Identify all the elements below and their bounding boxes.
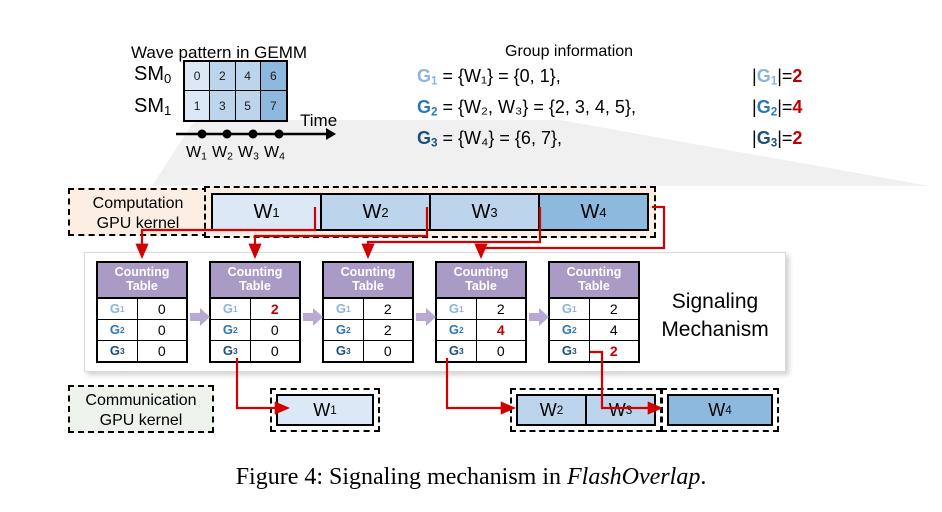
communication-block-w3[interactable]: W3: [587, 396, 654, 424]
counting-table-row: G1 2: [550, 299, 638, 320]
communication-blocks: W2 W3: [516, 394, 656, 426]
counting-row-key: G2: [550, 320, 590, 340]
counting-row-value: 2: [590, 341, 638, 361]
counting-table-row: G2 4: [437, 320, 525, 341]
signaling-title-line1: Signaling: [640, 288, 790, 316]
communication-block-w2[interactable]: W2: [518, 396, 587, 424]
sm-wave-grid: 0 2 4 6 1 3 5 7: [183, 60, 288, 122]
communication-block-w4[interactable]: W4: [669, 396, 771, 424]
counting-table-4: Counting Table G1 2 G2 4 G3 2: [548, 261, 640, 363]
progression-arrow-icon: [416, 308, 436, 326]
counting-table-1: Counting Table G1 2 G2 0 G3 0: [209, 261, 301, 363]
communication-label-line1: Communication: [70, 391, 212, 411]
counting-row-value: 2: [364, 320, 412, 340]
time-axis-label: Time: [300, 112, 337, 129]
caption-prefix: Figure 4: Signaling mechanism in: [236, 464, 567, 490]
computation-label-line2: GPU kernel: [70, 214, 206, 234]
progression-arrow-icon: [190, 308, 210, 326]
counting-table-header: Counting Table: [324, 263, 412, 299]
wave-tick-w1: W1: [186, 145, 207, 163]
signaling-title-line2: Mechanism: [640, 316, 790, 344]
counting-row-value: 2: [477, 299, 525, 319]
counting-table-header-line1: Counting: [550, 265, 638, 279]
signaling-mechanism-title: Signaling Mechanism: [640, 288, 790, 345]
counting-row-value: 2: [251, 299, 299, 319]
counting-table-header-line1: Counting: [98, 265, 186, 279]
group-row-1: G1 = {W₁} = {0, 1},: [417, 67, 561, 87]
counting-table-header-line2: Table: [550, 279, 638, 293]
communication-blocks: W4: [667, 394, 773, 426]
computation-block-w2[interactable]: W2: [322, 195, 431, 229]
counting-table-3: Counting Table G1 2 G2 4 G3 0: [435, 261, 527, 363]
communication-blocks: W1: [276, 394, 374, 426]
wave-tick-w3: W3: [238, 145, 259, 163]
counting-table-row: G1 2: [211, 299, 299, 320]
computation-label-line1: Computation: [70, 194, 206, 214]
communication-group-2: W2 W3: [510, 388, 662, 432]
group-cardinality-1: |G1|=2: [752, 67, 802, 87]
sm-cell: 6: [261, 62, 286, 91]
counting-row-key: G3: [437, 341, 477, 361]
wave-tick-w4: W4: [264, 145, 285, 163]
counting-table-2: Counting Table G1 2 G2 2 G3 0: [322, 261, 414, 363]
counting-table-header: Counting Table: [550, 263, 638, 299]
counting-table-header-line2: Table: [98, 279, 186, 293]
counting-table-row: G3 0: [324, 341, 412, 361]
sm-cell: 0: [185, 62, 210, 91]
caption-emphasis: FlashOverlap: [567, 464, 700, 490]
counting-row-value: 0: [251, 341, 299, 361]
group-row-2: G2 = {W₂, W₃} = {2, 3, 4, 5},: [417, 98, 636, 118]
counting-table-row: G2 2: [324, 320, 412, 341]
counting-table-header: Counting Table: [211, 263, 299, 299]
group-information-title: Group information: [505, 44, 633, 60]
communication-group-3: W4: [661, 388, 779, 432]
sm-cell: 7: [261, 91, 286, 120]
counting-table-header: Counting Table: [437, 263, 525, 299]
counting-row-value: 2: [364, 299, 412, 319]
computation-kernel-row: W1 W2 W3 W4: [204, 186, 656, 238]
sm-cell: 2: [210, 62, 235, 91]
computation-kernel-label: Computation GPU kernel: [68, 188, 208, 236]
sm-cell: 3: [210, 91, 235, 120]
counting-row-value: 4: [590, 320, 638, 340]
communication-label-line2: GPU kernel: [70, 411, 212, 431]
counting-table-header-line1: Counting: [211, 265, 299, 279]
group-row-3: G3 = {W₄} = {6, 7},: [417, 129, 562, 149]
counting-row-value: 2: [590, 299, 638, 319]
counting-row-key: G2: [211, 320, 251, 340]
counting-table-header-line1: Counting: [324, 265, 412, 279]
counting-row-key: G2: [98, 320, 138, 340]
counting-table-row: G2 0: [211, 320, 299, 341]
counting-row-key: G1: [324, 299, 364, 319]
sm-cell: 4: [236, 62, 261, 91]
counting-row-value: 0: [138, 299, 186, 319]
counting-table-row: G3 0: [211, 341, 299, 361]
counting-table-header-line2: Table: [437, 279, 525, 293]
counting-table-row: G1 0: [98, 299, 186, 320]
wave-pattern-title: Wave pattern in GEMM: [131, 44, 307, 61]
sm-cell: 5: [236, 91, 261, 120]
counting-row-value: 0: [138, 320, 186, 340]
computation-wave-blocks: W1 W2 W3 W4: [211, 193, 649, 231]
communication-block-w1[interactable]: W1: [278, 396, 372, 424]
counting-row-value: 0: [477, 341, 525, 361]
counting-row-key: G3: [324, 341, 364, 361]
computation-block-w3[interactable]: W3: [431, 195, 540, 229]
counting-row-key: G1: [550, 299, 590, 319]
counting-row-key: G2: [437, 320, 477, 340]
group-cardinality-2: |G2|=4: [752, 98, 802, 118]
communication-group-1: W1: [270, 388, 380, 432]
counting-row-value: 4: [477, 320, 525, 340]
counting-table-row: G3 0: [437, 341, 525, 361]
counting-row-key: G3: [98, 341, 138, 361]
counting-row-key: G3: [211, 341, 251, 361]
counting-row-key: G1: [437, 299, 477, 319]
counting-row-key: G2: [324, 320, 364, 340]
group-cardinality-3: |G3|=2: [752, 129, 802, 149]
progression-arrow-icon: [303, 308, 323, 326]
counting-table-row: G1 2: [324, 299, 412, 320]
sm0-label: SM0: [134, 64, 171, 85]
counting-row-key: G1: [211, 299, 251, 319]
counting-row-value: 0: [251, 320, 299, 340]
counting-table-row: G1 2: [437, 299, 525, 320]
figure-caption: Figure 4: Signaling mechanism in FlashOv…: [0, 464, 942, 491]
counting-row-key: G1: [98, 299, 138, 319]
progression-arrow-icon: [529, 308, 549, 326]
caption-suffix: .: [700, 464, 706, 490]
counting-row-key: G3: [550, 341, 590, 361]
counting-table-row: G3 2: [550, 341, 638, 361]
computation-block-w1[interactable]: W1: [213, 195, 322, 229]
sm-cell: 1: [185, 91, 210, 120]
counting-table-header-line2: Table: [324, 279, 412, 293]
computation-block-w4[interactable]: W4: [540, 195, 647, 229]
counting-table-row: G2 0: [98, 320, 186, 341]
wave-tick-w2: W2: [212, 145, 233, 163]
counting-table-header: Counting Table: [98, 263, 186, 299]
figure-root: Wave pattern in GEMM SM0 SM1 0 2 4 6 1 3…: [0, 0, 942, 512]
sm1-label: SM1: [134, 96, 171, 117]
counting-table-row: G2 4: [550, 320, 638, 341]
counting-table-header-line1: Counting: [437, 265, 525, 279]
counting-table-header-line2: Table: [211, 279, 299, 293]
counting-table-row: G3 0: [98, 341, 186, 361]
counting-table-0: Counting Table G1 0 G2 0 G3 0: [96, 261, 188, 363]
counting-row-value: 0: [364, 341, 412, 361]
counting-row-value: 0: [138, 341, 186, 361]
communication-kernel-label: Communication GPU kernel: [68, 385, 214, 433]
